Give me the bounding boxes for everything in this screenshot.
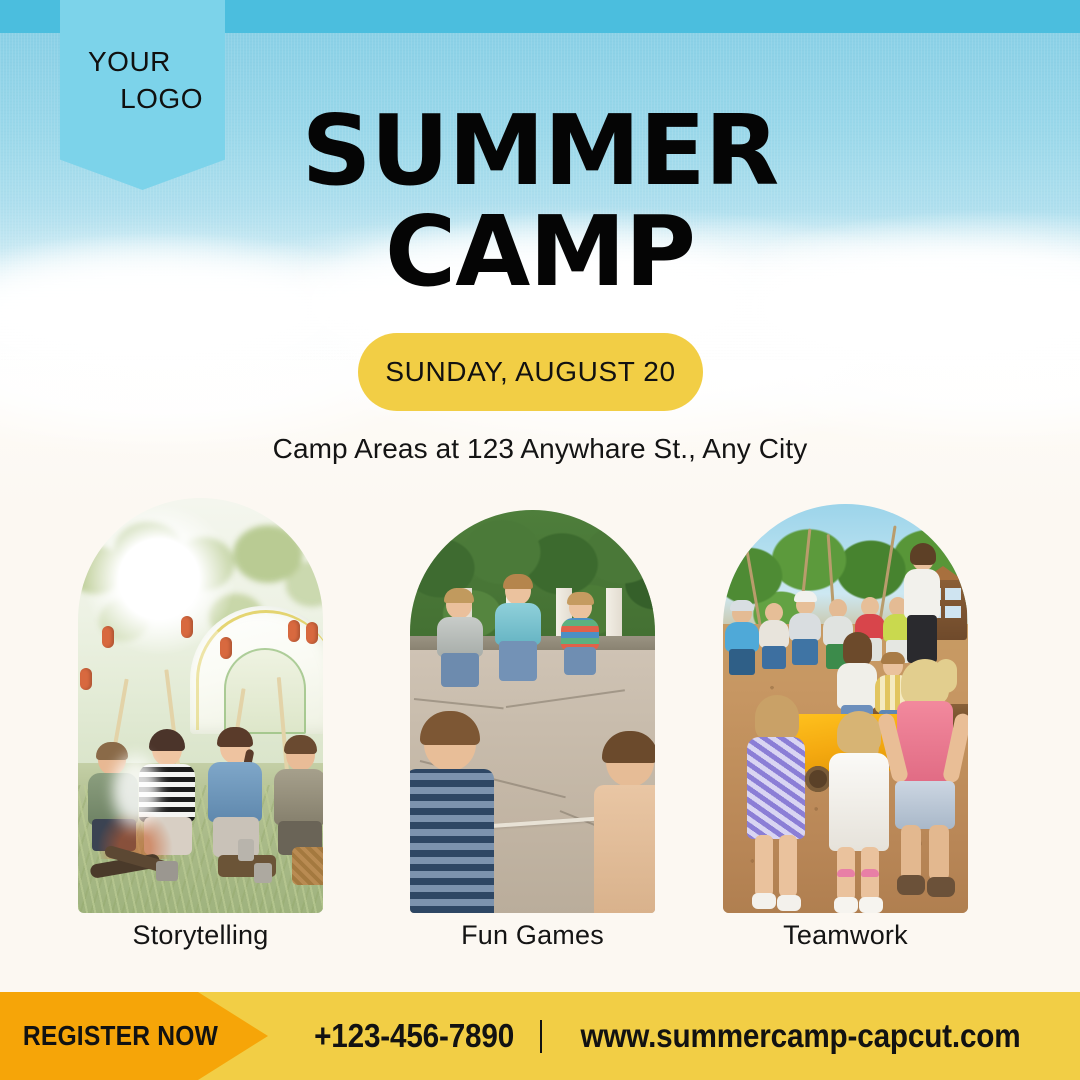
event-date-text: SUNDAY, AUGUST 20 bbox=[385, 356, 675, 388]
footer-contact-info: +123-456-7890 www.summercamp-capcut.com bbox=[268, 992, 1080, 1080]
adult-counselor-figure bbox=[901, 547, 943, 663]
child-figure bbox=[436, 591, 484, 687]
photo-storytelling bbox=[78, 498, 323, 913]
child-figure bbox=[560, 595, 600, 675]
child-figure bbox=[272, 739, 323, 855]
wheelbarrow-scene bbox=[723, 504, 968, 913]
logo-line-2: LOGO bbox=[120, 81, 225, 118]
campfire-scene bbox=[78, 498, 323, 913]
jump-rope-scene bbox=[410, 510, 655, 913]
child-figure bbox=[741, 701, 811, 913]
photo-captions: Storytelling Fun Games Teamwork bbox=[0, 920, 1080, 975]
footer-website[interactable]: www.summercamp-capcut.com bbox=[580, 1017, 1020, 1055]
photo-teamwork bbox=[723, 504, 968, 913]
register-now-label: REGISTER NOW bbox=[0, 1020, 218, 1052]
photo-fun-games bbox=[410, 510, 655, 913]
caption-fun-games: Fun Games bbox=[410, 920, 655, 951]
footer-bar: REGISTER NOW +123-456-7890 www.summercam… bbox=[0, 992, 1080, 1080]
child-figure bbox=[759, 603, 789, 669]
child-figure bbox=[588, 737, 655, 913]
adult-counselor-figure bbox=[883, 659, 967, 903]
child-figure bbox=[494, 577, 542, 681]
event-address: Camp Areas at 123 Anywhare St., Any City bbox=[0, 433, 1080, 465]
logo-line-1: YOUR bbox=[60, 44, 171, 81]
footer-divider bbox=[540, 1020, 542, 1053]
footer-phone[interactable]: +123-456-7890 bbox=[315, 1017, 515, 1055]
child-figure bbox=[206, 731, 266, 857]
caption-storytelling: Storytelling bbox=[78, 920, 323, 951]
register-now-button[interactable]: REGISTER NOW bbox=[0, 992, 268, 1080]
title-line-camp: CAMP bbox=[0, 205, 1080, 298]
photo-gallery bbox=[0, 498, 1080, 918]
child-figure bbox=[410, 717, 496, 913]
poster-canvas: YOUR LOGO SUMMER CAMP SUNDAY, AUGUST 20 … bbox=[0, 0, 1080, 1080]
event-date-badge: SUNDAY, AUGUST 20 bbox=[358, 333, 703, 411]
caption-teamwork: Teamwork bbox=[723, 920, 968, 951]
child-figure bbox=[725, 603, 759, 675]
child-figure bbox=[789, 595, 821, 665]
logo-placeholder-ribbon[interactable]: YOUR LOGO bbox=[60, 0, 225, 190]
